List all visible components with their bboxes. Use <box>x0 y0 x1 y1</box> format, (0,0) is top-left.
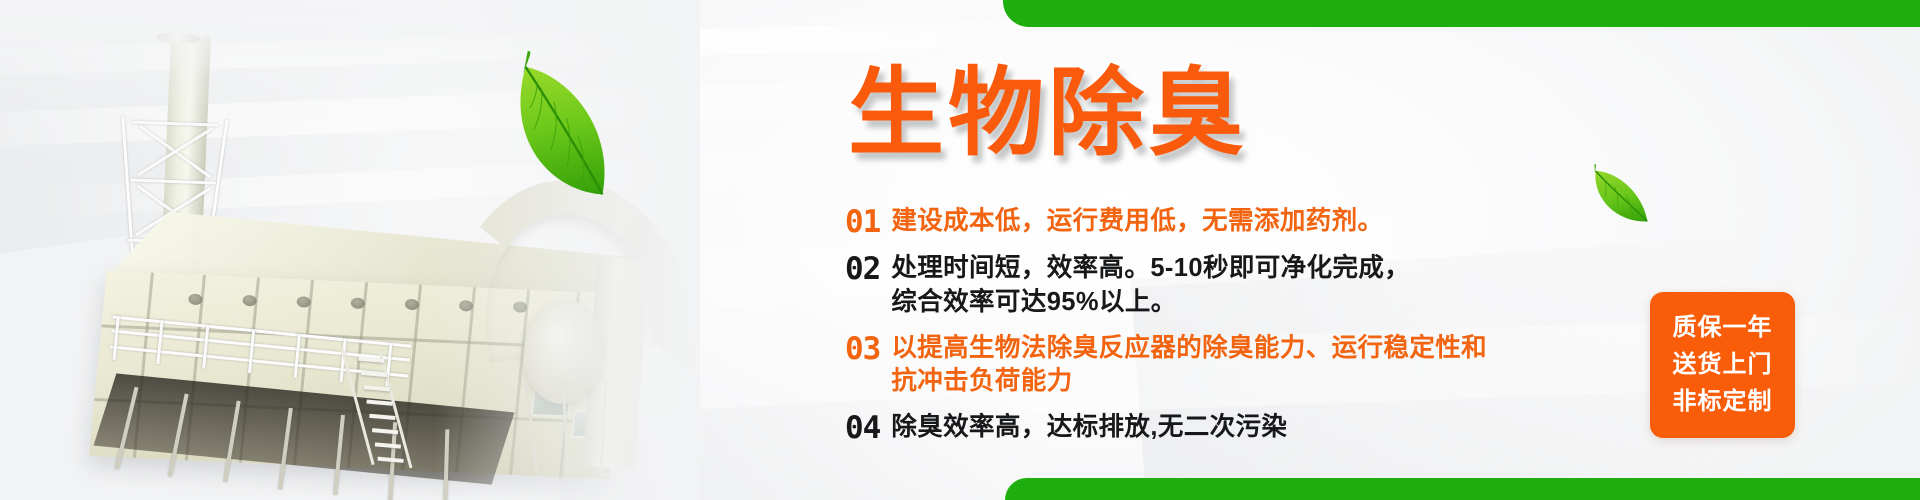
list-item-text: 除臭效率高，达标排放,无二次污染 <box>891 411 1287 444</box>
list-item: 04 除臭效率高，达标排放,无二次污染 <box>845 411 1545 444</box>
guarantee-badge: 质保一年 送货上门 非标定制 <box>1650 292 1795 438</box>
page-title: 生物除臭 <box>848 66 1248 162</box>
list-item-text: 以提高生物法除臭反应器的除臭能力、运行稳定性和 抗冲击负荷能力 <box>891 332 1487 398</box>
list-item: 01 建设成本低，运行费用低，无需添加药剂。 <box>845 205 1545 238</box>
promo-banner: 生物除臭 01 建设成本低，运行费用低，无需添加药剂。 02 处理时间短，效率高… <box>0 0 1920 500</box>
list-item-text: 处理时间短，效率高。5-10秒即可净化完成， 综合效率可达95%以上。 <box>891 252 1410 318</box>
support-rods <box>520 380 640 480</box>
chimney-cap <box>156 32 200 44</box>
badge-line-warranty: 质保一年 <box>1673 316 1773 340</box>
feature-list: 01 建设成本低，运行费用低，无需添加药剂。 02 处理时间短，效率高。5-10… <box>845 205 1545 456</box>
list-item-number: 01 <box>845 206 880 239</box>
badge-line-custom: 非标定制 <box>1673 390 1773 414</box>
list-item-number: 02 <box>845 253 880 286</box>
badge-line-delivery: 送货上门 <box>1673 353 1773 377</box>
list-item-number: 03 <box>845 333 880 366</box>
green-bar-bottom <box>1005 478 1920 500</box>
list-item-number: 04 <box>845 412 880 445</box>
leaf-icon <box>1575 157 1666 234</box>
list-item: 03 以提高生物法除臭反应器的除臭能力、运行稳定性和 抗冲击负荷能力 <box>845 332 1545 398</box>
list-item: 02 处理时间短，效率高。5-10秒即可净化完成， 综合效率可达95%以上。 <box>845 252 1545 318</box>
list-item-text: 建设成本低，运行费用低，无需添加药剂。 <box>891 205 1383 238</box>
green-bar-top <box>1003 0 1920 27</box>
